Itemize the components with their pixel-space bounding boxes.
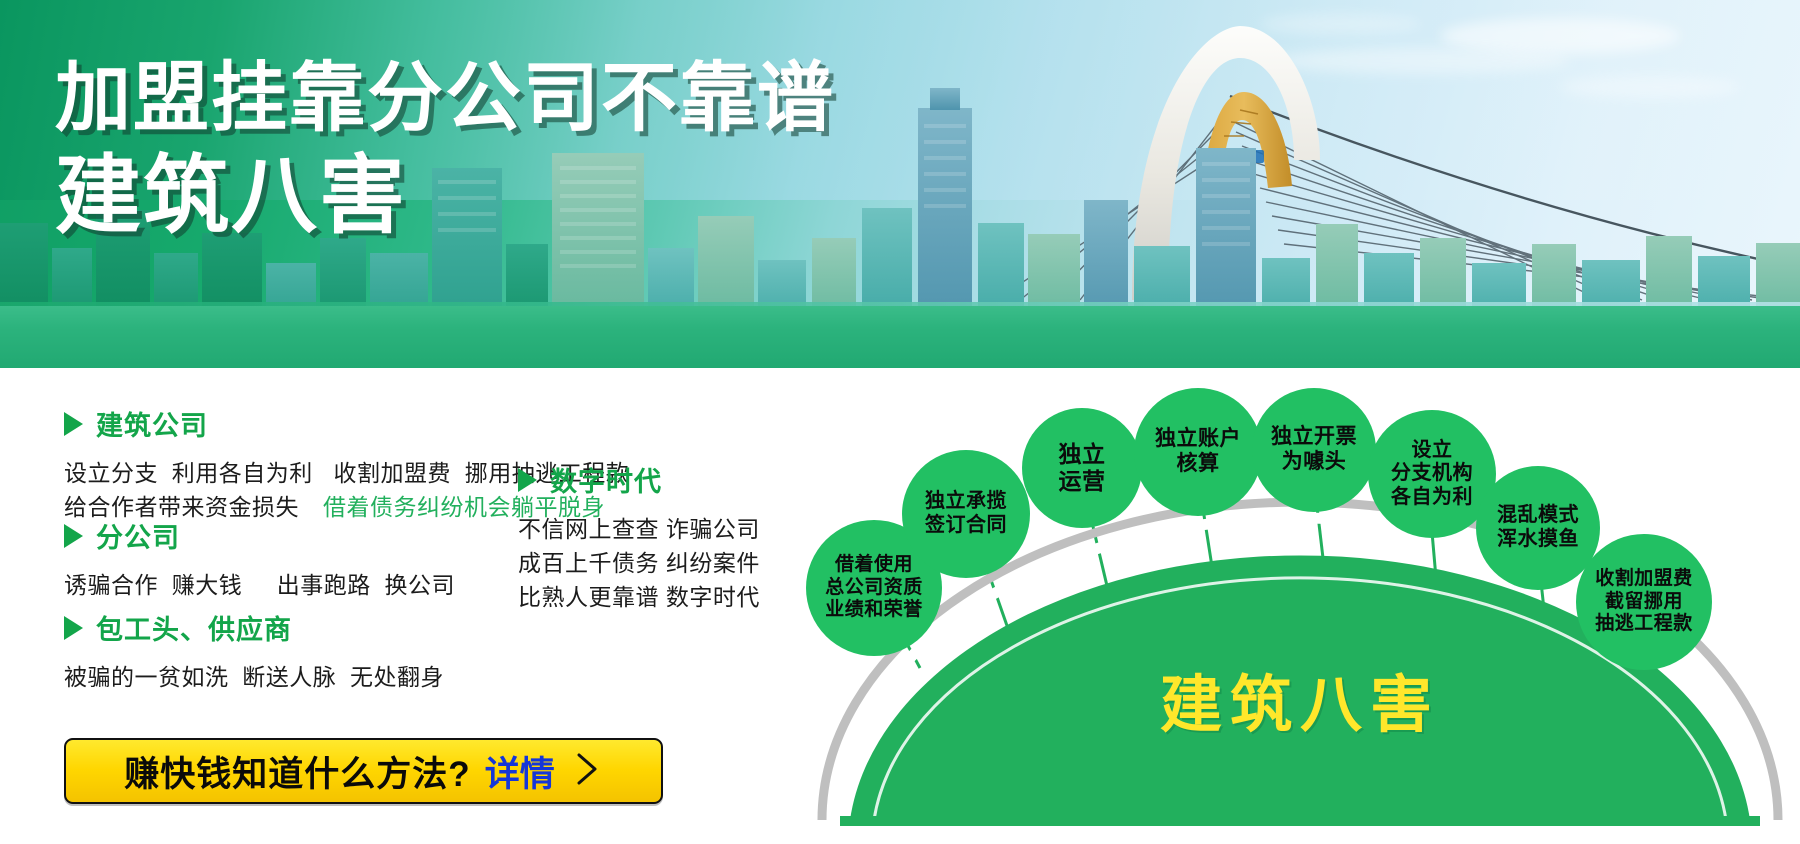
triangle-bullet-icon <box>518 468 537 492</box>
section-heading: 建筑公司 <box>64 404 629 443</box>
section-contractor-supplier: 包工头、供应商 被骗的一贫如洗 断送人脉 无处翻身 <box>64 608 444 694</box>
section-heading: 数字时代 <box>518 460 760 499</box>
triangle-bullet-icon <box>64 524 83 548</box>
bubble-independent-invoice[interactable]: 独立开票 为噱头 <box>1252 388 1376 512</box>
bubble-line: 借着使用 <box>835 554 913 576</box>
section-body-line: 比熟人更靠谱 数字时代 <box>518 580 760 614</box>
section-title: 建筑公司 <box>96 404 208 443</box>
bubble-line: 抽逃工程款 <box>1595 613 1693 635</box>
bubble-independent-contract[interactable]: 独立承揽 签订合同 <box>902 450 1030 578</box>
bubble-line: 独立 <box>1059 441 1106 468</box>
bubble-chaotic-mode[interactable]: 混乱模式 浑水摸鱼 <box>1476 466 1600 590</box>
bubble-line: 截留挪用 <box>1605 591 1683 613</box>
bubble-line: 收割加盟费 <box>1595 568 1693 590</box>
section-heading: 包工头、供应商 <box>64 608 444 647</box>
section-body-line: 不信网上查查 诈骗公司 <box>518 512 760 546</box>
bubble-line: 运营 <box>1059 468 1106 495</box>
bubble-line: 分支机构 <box>1391 462 1473 486</box>
bubble-line: 浑水摸鱼 <box>1497 528 1579 552</box>
bubble-harvest-fee[interactable]: 收割加盟费 截留挪用 抽逃工程款 <box>1576 534 1712 670</box>
bubble-line: 独立开票 <box>1271 425 1357 450</box>
section-title: 分公司 <box>96 516 180 555</box>
bubble-line: 核算 <box>1177 452 1220 477</box>
bubble-line: 业绩和荣誉 <box>825 599 923 621</box>
section-body-line: 诱骗合作 赚大钱 出事跑路 换公司 <box>64 568 455 602</box>
section-digital-era: 数字时代 不信网上查查 诈骗公司 成百上千债务 纠纷案件 比熟人更靠谱 数字时代 <box>518 460 760 614</box>
ground-band <box>0 306 1800 368</box>
chevron-right-icon <box>573 749 603 794</box>
bubble-independent-account[interactable]: 独立账户 核算 <box>1134 388 1262 516</box>
cta-button[interactable]: 赚快钱知道什么方法? 详情 <box>64 738 663 804</box>
hero-title-line2: 建筑八害 <box>55 150 835 243</box>
section-title: 数字时代 <box>550 460 662 499</box>
section-heading: 分公司 <box>64 516 455 555</box>
bubble-line: 独立账户 <box>1155 427 1241 452</box>
cta-link-label: 详情 <box>485 746 555 797</box>
section-body-line: 成百上千债务 纠纷案件 <box>518 546 760 580</box>
dome-diagram: 建筑八害 借着使用 总公司资质 业绩和荣誉 独立承揽 签订合同 独立 运营 独立… <box>800 368 1800 844</box>
section-body-line: 被骗的一贫如洗 断送人脉 无处翻身 <box>64 660 444 694</box>
bubble-line: 各自为利 <box>1391 486 1473 510</box>
bubble-line: 签订合同 <box>925 514 1007 538</box>
bubble-independent-operation[interactable]: 独立 运营 <box>1022 408 1142 528</box>
cta-main-label: 赚快钱知道什么方法? <box>124 746 470 797</box>
triangle-bullet-icon <box>64 412 83 436</box>
bubble-line: 为噱头 <box>1282 450 1347 475</box>
hero-banner: 加盟挂靠分公司不靠谱 建筑八害 <box>0 0 1800 368</box>
bubble-line: 独立承揽 <box>925 490 1007 514</box>
bubble-line: 设立 <box>1412 439 1453 463</box>
section-branch-company: 分公司 诱骗合作 赚大钱 出事跑路 换公司 <box>64 516 455 602</box>
bubble-line: 总公司资质 <box>825 577 923 599</box>
hero-title-line1: 加盟挂靠分公司不靠谱 <box>55 58 835 140</box>
section-title: 包工头、供应商 <box>96 608 292 647</box>
bubble-line: 混乱模式 <box>1497 504 1579 528</box>
triangle-bullet-icon <box>64 616 83 640</box>
hero-title-group: 加盟挂靠分公司不靠谱 建筑八害 <box>55 58 835 243</box>
